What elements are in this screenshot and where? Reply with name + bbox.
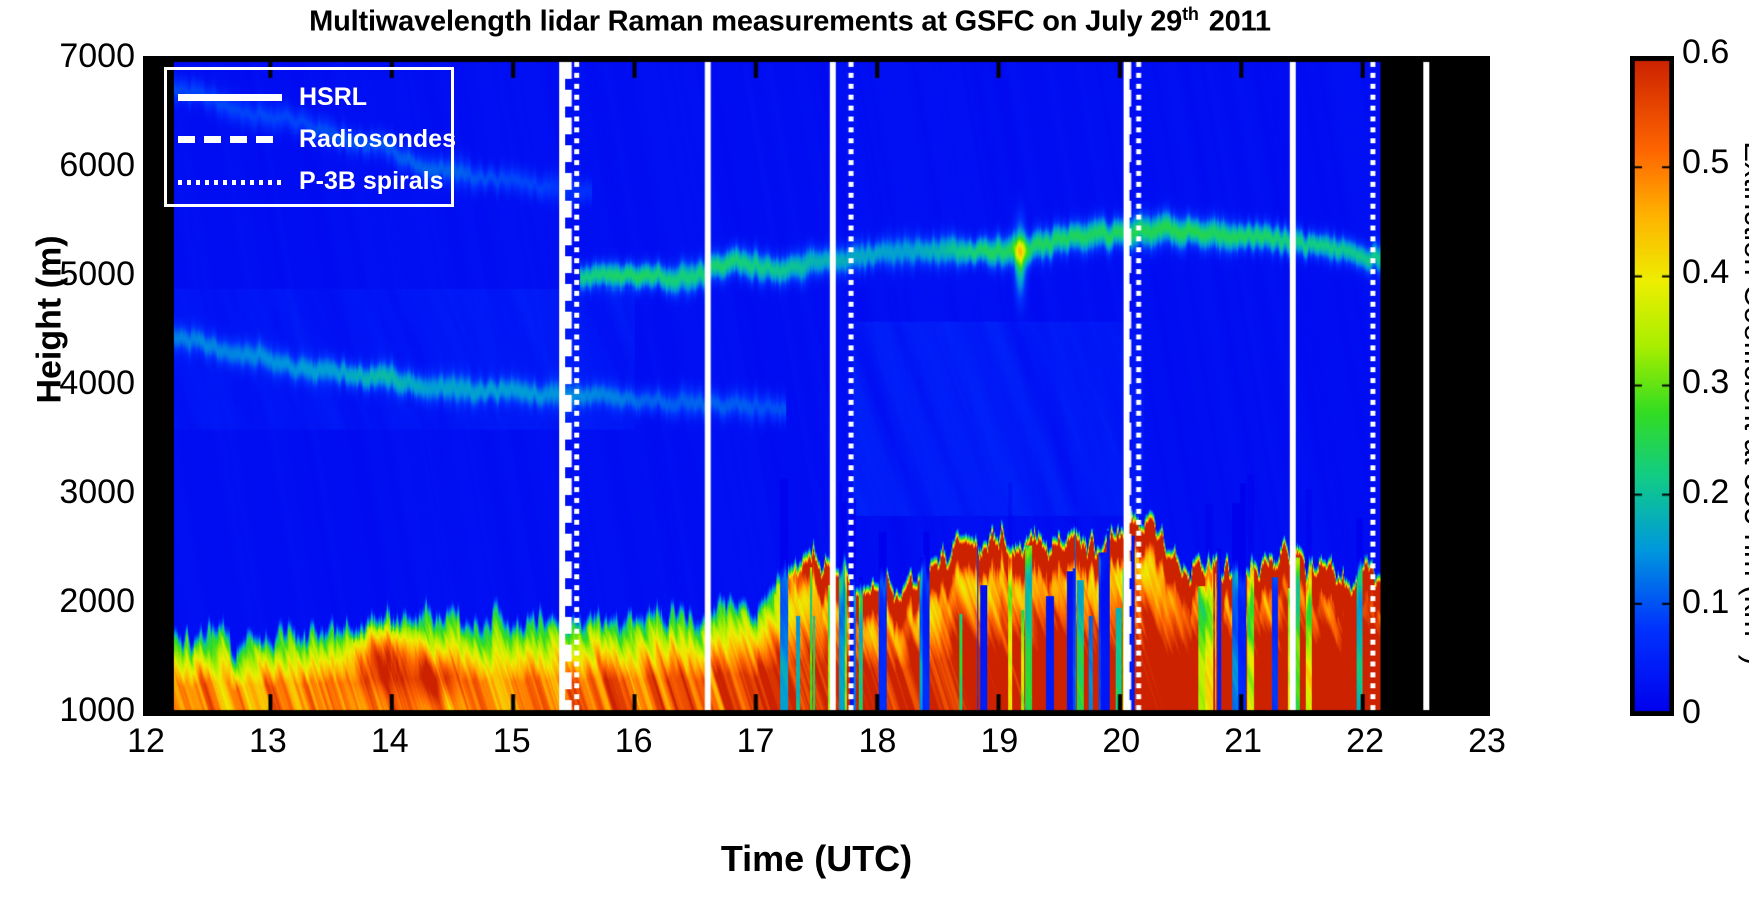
y-axis-label: Height (m): [31, 160, 70, 480]
x-tick-label: 20: [1081, 722, 1161, 761]
x-axis-label: Time (UTC): [143, 838, 1490, 880]
x-tick-label: 21: [1203, 722, 1283, 761]
x-tick-label: 13: [228, 722, 308, 761]
x-tick-label: 15: [472, 722, 552, 761]
colorbar-tick-label: 0.2: [1682, 473, 1729, 512]
figure-root: Multiwavelength lidar Raman measurements…: [0, 0, 1749, 903]
legend-item-radiosondes: Radiosondes: [175, 118, 443, 160]
title-main-text: Multiwavelength lidar Raman measurements…: [309, 6, 1182, 38]
colorbar-label-tail: ): [1738, 655, 1749, 665]
colorbar-gradient: [1630, 56, 1674, 716]
y-tick-label: 7000: [59, 37, 135, 76]
x-tick-label: 19: [959, 722, 1039, 761]
y-tick-label: 2000: [59, 582, 135, 621]
heatmap-plot-area: HSRL Radiosondes P-3B spirals: [143, 56, 1490, 716]
x-tick-label: 17: [716, 722, 796, 761]
legend-swatch-dotted-icon: [175, 170, 285, 192]
y-tick-label: 3000: [59, 473, 135, 512]
legend-item-p3b-spirals: P-3B spirals: [175, 160, 443, 202]
x-tick-label: 16: [594, 722, 674, 761]
title-superscript: th: [1182, 4, 1199, 24]
colorbar-tick-label: 0: [1682, 693, 1701, 732]
x-tick-label: 14: [350, 722, 430, 761]
x-tick-label: 12: [106, 722, 186, 761]
legend-label-radiosondes: Radiosondes: [299, 127, 456, 152]
y-tick-label: 6000: [59, 146, 135, 185]
colorbar-tick-label: 0.6: [1682, 33, 1729, 72]
colorbar-tick-label: 0.5: [1682, 143, 1729, 182]
x-tick-label: 22: [1325, 722, 1405, 761]
y-tick-label: 5000: [59, 255, 135, 294]
title-year: 2011: [1209, 6, 1271, 38]
legend-item-hsrl: HSRL: [175, 76, 443, 118]
colorbar-label: Extinction Coefficient at 355 nm (km-1): [1737, 73, 1749, 733]
colorbar-label-main: Extinction Coefficient at 355 nm (km: [1738, 141, 1749, 637]
legend: HSRL Radiosondes P-3B spirals: [164, 67, 454, 207]
legend-swatch-dashed-icon: [175, 128, 285, 150]
colorbar-tick-label: 0.4: [1682, 253, 1729, 292]
y-tick-label: 4000: [59, 364, 135, 403]
legend-label-hsrl: HSRL: [299, 85, 367, 110]
colorbar: [1630, 56, 1674, 716]
page-title: Multiwavelength lidar Raman measurements…: [0, 4, 1580, 39]
legend-label-p3b-spirals: P-3B spirals: [299, 169, 444, 194]
x-tick-label: 18: [837, 722, 917, 761]
colorbar-tick-label: 0.3: [1682, 363, 1729, 402]
legend-swatch-solid-icon: [175, 86, 285, 108]
colorbar-tick-label: 0.1: [1682, 583, 1729, 622]
x-tick-label: 23: [1447, 722, 1527, 761]
